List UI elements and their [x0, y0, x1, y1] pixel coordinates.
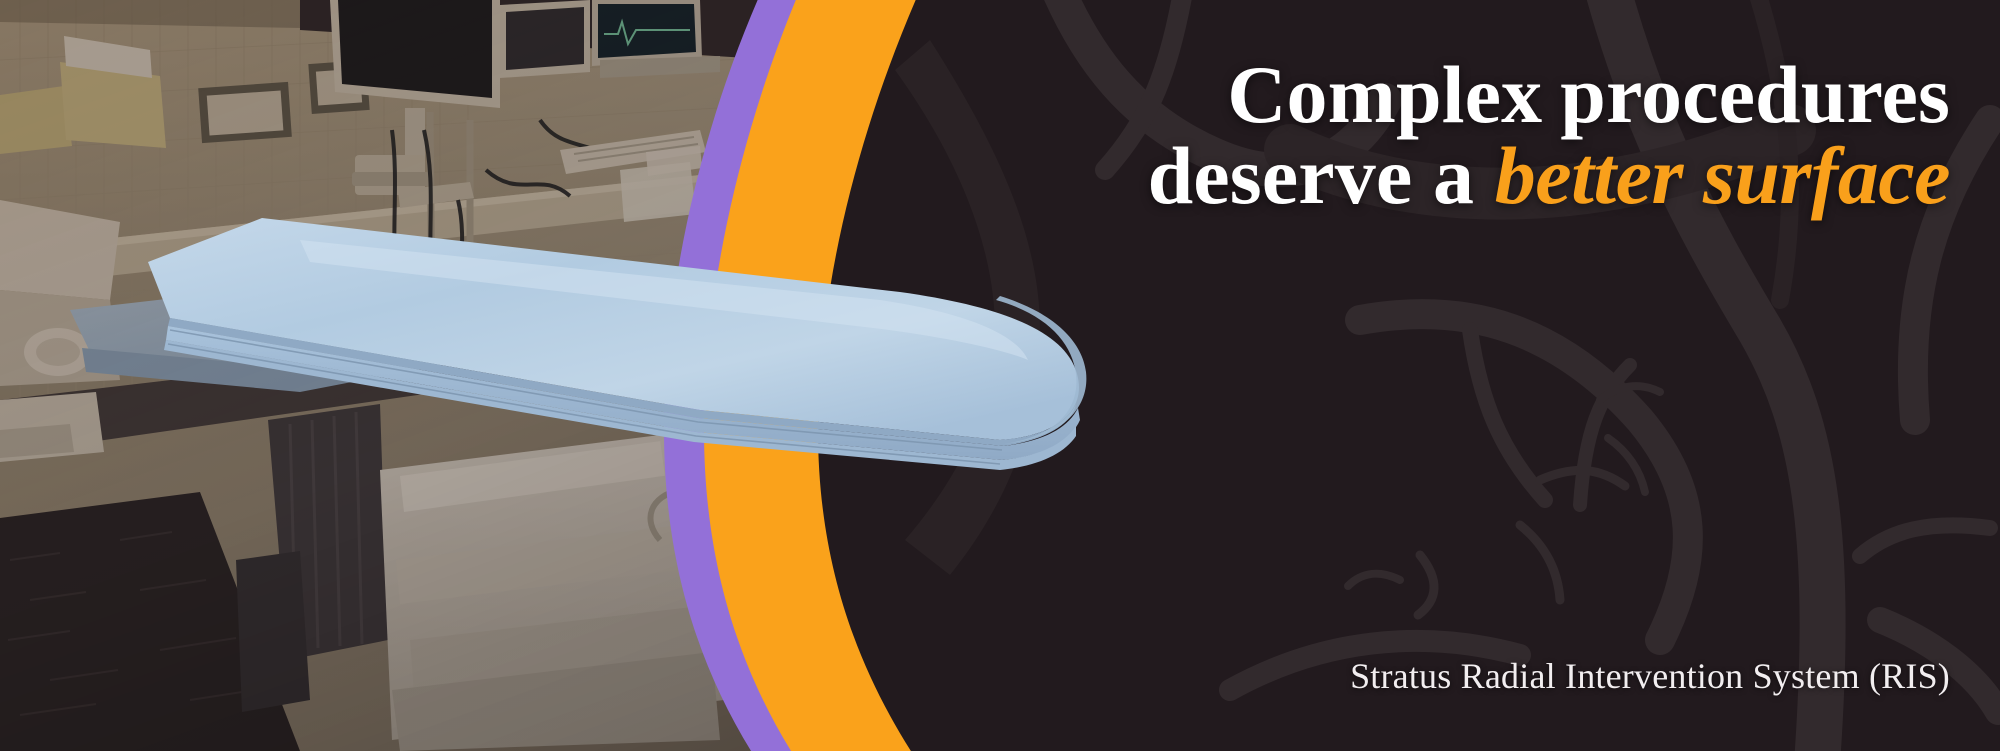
- product-name-caption: Stratus Radial Intervention System (RIS): [1350, 655, 1950, 697]
- promo-banner: Complexprocedures deserve a better surfa…: [0, 0, 2000, 751]
- headline: Complexprocedures deserve a better surfa…: [0, 54, 1950, 216]
- headline-line-1: Complexprocedures: [0, 54, 1950, 135]
- headline-line-2: deserve a better surface: [0, 135, 1950, 216]
- headline-word-complex: Complex: [1227, 49, 1542, 140]
- headline-plain-text: deserve a: [1148, 130, 1475, 221]
- headline-accent-text: better surface: [1495, 130, 1950, 221]
- headline-word-procedures: procedures: [1560, 49, 1950, 140]
